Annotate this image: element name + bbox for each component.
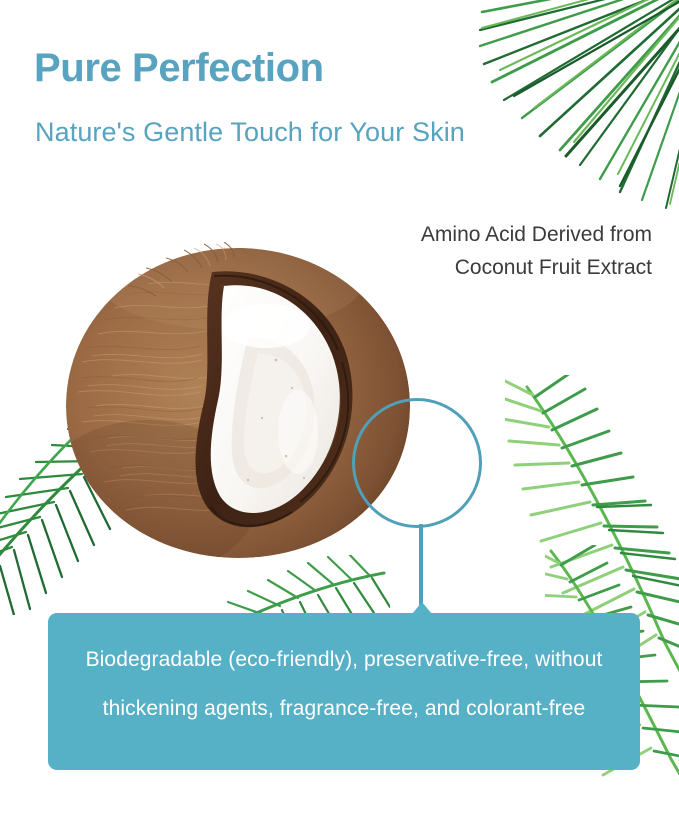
coconut-product-image bbox=[52, 242, 424, 564]
benefits-callout-text: Biodegradable (eco-friendly), preservati… bbox=[82, 635, 606, 733]
zoom-highlight-circle bbox=[352, 398, 482, 528]
palm-frond-icon bbox=[470, 0, 679, 210]
page-subtitle: Nature's Gentle Touch for Your Skin bbox=[35, 117, 465, 148]
page-title: Pure Perfection bbox=[34, 46, 324, 91]
benefits-callout-box: Biodegradable (eco-friendly), preservati… bbox=[48, 613, 640, 770]
infographic-canvas: Pure Perfection Nature's Gentle Touch fo… bbox=[0, 0, 679, 815]
